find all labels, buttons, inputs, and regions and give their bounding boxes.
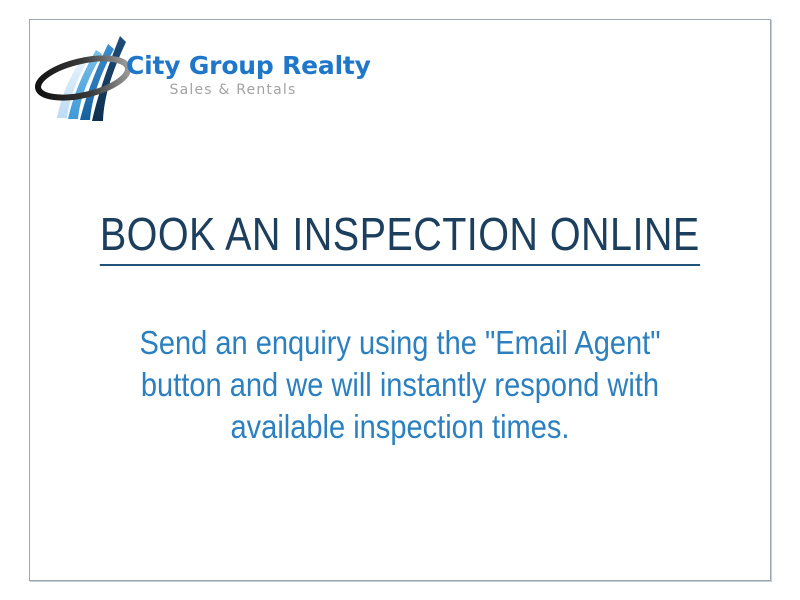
body-line: Send an enquiry using the "Email Agent" (48, 322, 752, 364)
company-tagline: Sales & Rentals (126, 81, 346, 99)
body-paragraph: Send an enquiry using the "Email Agent" … (0, 322, 800, 448)
slide-canvas: City Group Realty Sales & Rentals BOOK A… (0, 0, 800, 600)
body-line: available inspection times. (48, 406, 752, 448)
body-line: button and we will instantly respond wit… (48, 364, 752, 406)
page-title: BOOK AN INSPECTION ONLINE (100, 208, 700, 266)
brand-logo: City Group Realty Sales & Rentals (28, 26, 348, 126)
brand-wordmark: City Group Realty Sales & Rentals (126, 52, 346, 99)
swoosh-ring-with-blades-logo (28, 26, 138, 126)
headline-container: BOOK AN INSPECTION ONLINE (0, 208, 800, 266)
company-name: City Group Realty (126, 52, 346, 80)
